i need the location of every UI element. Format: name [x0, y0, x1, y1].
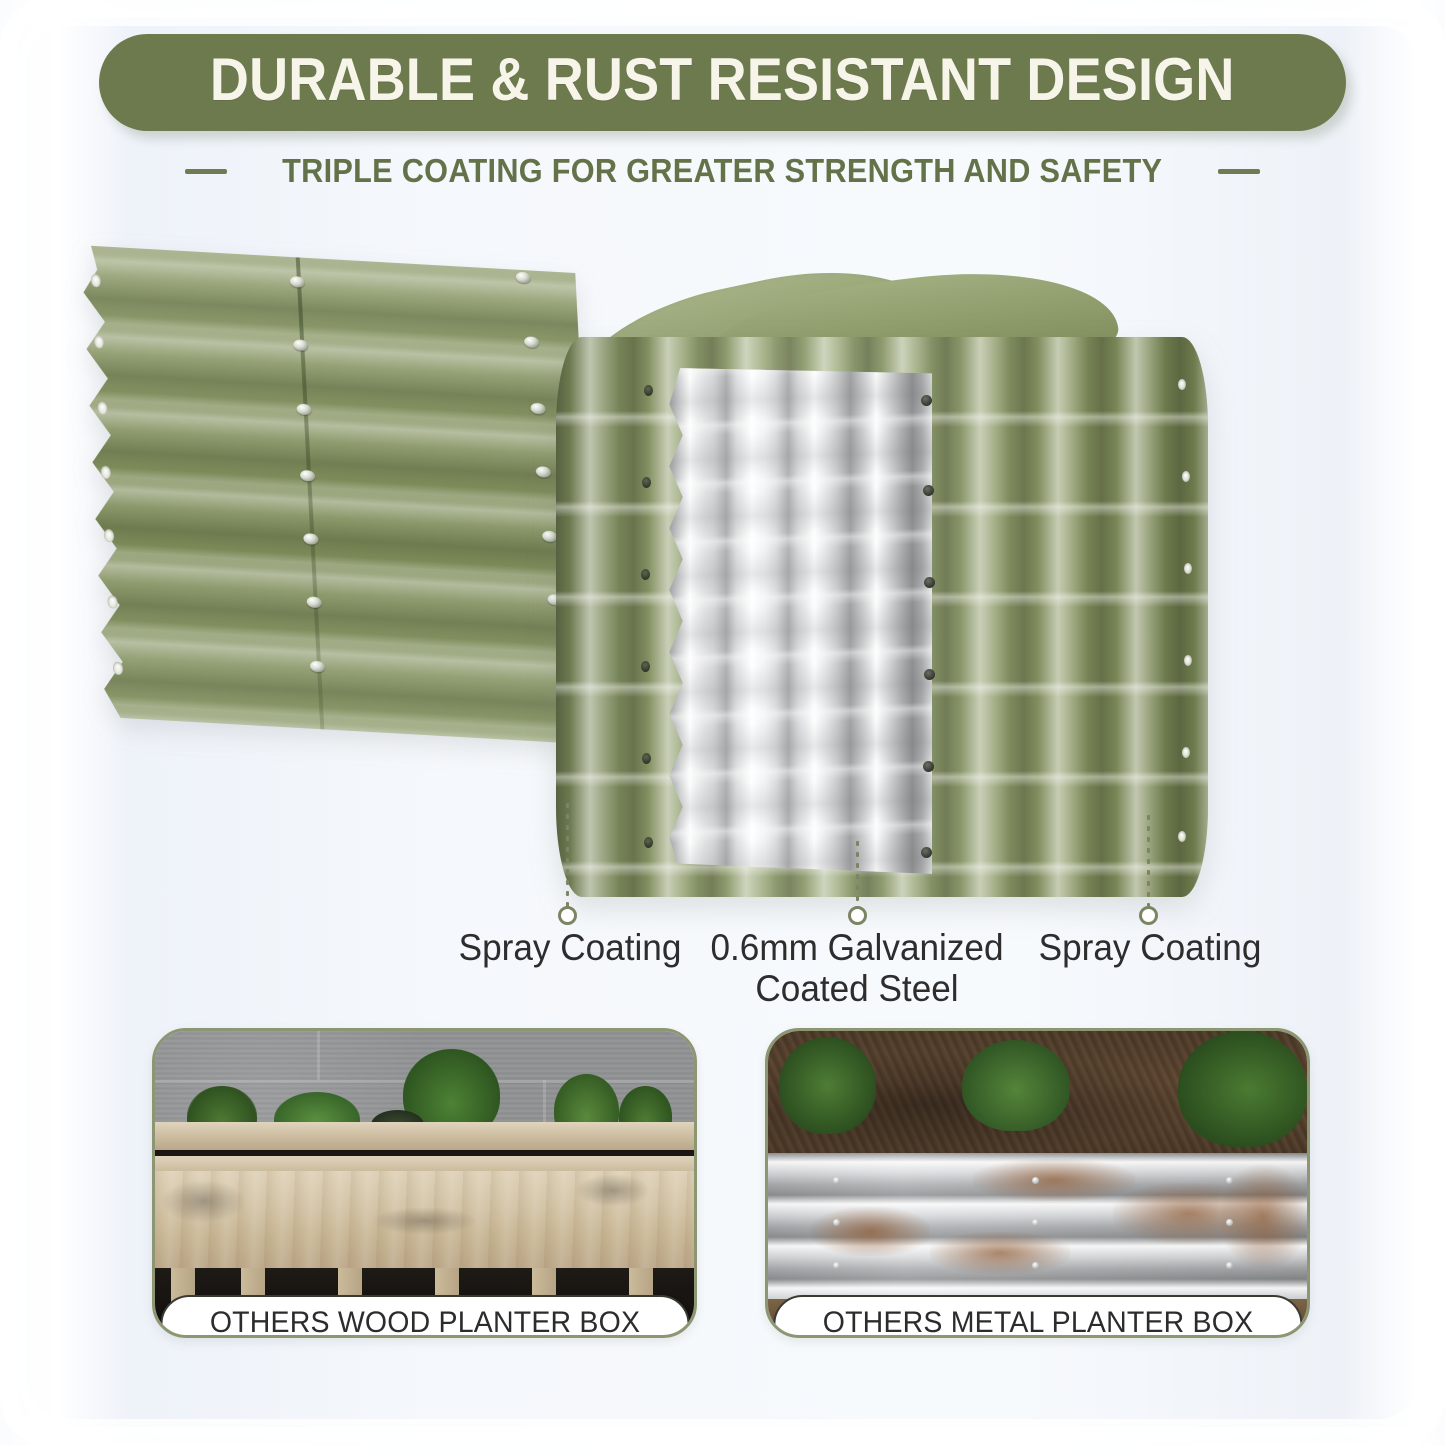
corrugated-panel	[76, 245, 600, 745]
garden-bed-cutaway	[548, 275, 1208, 915]
page-title: DURABLE & RUST RESISTANT DESIGN	[210, 48, 1235, 113]
wood-stain	[371, 1207, 479, 1234]
mounting-hole	[1184, 655, 1192, 666]
callout-label-spray-coating-left: Spray Coating	[409, 928, 732, 969]
rivet-icon	[924, 669, 935, 680]
callout-label-line1: 0.6mm Galvanized	[691, 928, 1024, 969]
mounting-hole	[1178, 379, 1186, 390]
rivet-icon	[1032, 1177, 1039, 1184]
comparison-card-wood: OTHERS WOOD PLANTER BOX	[152, 1028, 697, 1338]
card-caption-metal-text: OTHERS METAL PLANTER BOX	[822, 1306, 1253, 1338]
callout-label-galvanized-steel: 0.6mm Galvanized Coated Steel	[691, 928, 1024, 1009]
page-subtitle: TRIPLE COATING FOR GREATER STRENGTH AND …	[282, 152, 1162, 190]
rivet-icon	[921, 847, 932, 858]
rivet-icon	[642, 753, 651, 764]
pepper-plant	[779, 1037, 876, 1134]
rivet-icon	[644, 837, 653, 848]
rivet-icon	[924, 577, 935, 588]
wood-stain	[160, 1180, 246, 1223]
rivet-icon	[642, 477, 651, 488]
rivet-icon	[641, 661, 650, 672]
card-caption-wood: OTHERS WOOD PLANTER BOX	[160, 1295, 689, 1338]
callout-label-spray-coating-right: Spray Coating	[989, 928, 1312, 969]
rust-stain	[811, 1207, 930, 1256]
header-banner: DURABLE & RUST RESISTANT DESIGN	[99, 34, 1345, 131]
rivet-icon	[923, 485, 934, 496]
rivet-icon	[1226, 1177, 1233, 1184]
rivet-icon	[833, 1262, 840, 1269]
rivet-icon	[644, 385, 653, 396]
rivet-icon	[923, 761, 934, 772]
rivet-icon	[641, 569, 650, 580]
header-banner-wrapper: DURABLE & RUST RESISTANT DESIGN	[0, 34, 1445, 131]
screw-icon	[299, 469, 315, 481]
wood-stain	[575, 1174, 650, 1207]
wood-top-rail-back	[155, 1122, 694, 1149]
infographic-page: DURABLE & RUST RESISTANT DESIGN TRIPLE C…	[0, 0, 1445, 1445]
rust-stain	[973, 1159, 1135, 1202]
subtitle-row: TRIPLE COATING FOR GREATER STRENGTH AND …	[0, 152, 1445, 190]
mounting-hole	[1182, 471, 1190, 482]
rust-stain	[930, 1232, 1070, 1275]
mounting-hole	[1182, 747, 1190, 758]
rust-stain	[1221, 1165, 1307, 1268]
mounting-hole	[104, 529, 115, 543]
callout-label-line2: Coated Steel	[691, 969, 1024, 1010]
metal-planter-photo	[768, 1031, 1307, 1335]
tomato-plant	[962, 1040, 1070, 1131]
tomato-plant	[1178, 1031, 1307, 1147]
card-caption-wood-text: OTHERS WOOD PLANTER BOX	[209, 1306, 639, 1338]
mounting-hole	[1184, 563, 1192, 574]
comparison-cards: OTHERS WOOD PLANTER BOX	[0, 1028, 1445, 1388]
panel-surface	[76, 245, 600, 745]
hero-product-illustration	[0, 215, 1445, 915]
galvanized-steel-layer	[664, 363, 932, 879]
dash-right-icon	[1218, 169, 1260, 174]
mounting-hole	[97, 401, 108, 415]
comparison-card-metal: OTHERS METAL PLANTER BOX	[765, 1028, 1310, 1338]
panel-sheen	[76, 245, 600, 745]
dash-left-icon	[185, 169, 227, 174]
screw-icon	[530, 402, 546, 414]
mounting-hole	[91, 274, 102, 288]
rivet-icon	[921, 395, 932, 406]
bed-cylinder	[556, 337, 1208, 897]
mounting-hole	[1178, 831, 1186, 842]
rivet-icon	[833, 1177, 840, 1184]
steel-bands	[664, 363, 932, 879]
card-caption-metal: OTHERS METAL PLANTER BOX	[773, 1295, 1302, 1338]
wood-planter-photo	[155, 1031, 694, 1335]
